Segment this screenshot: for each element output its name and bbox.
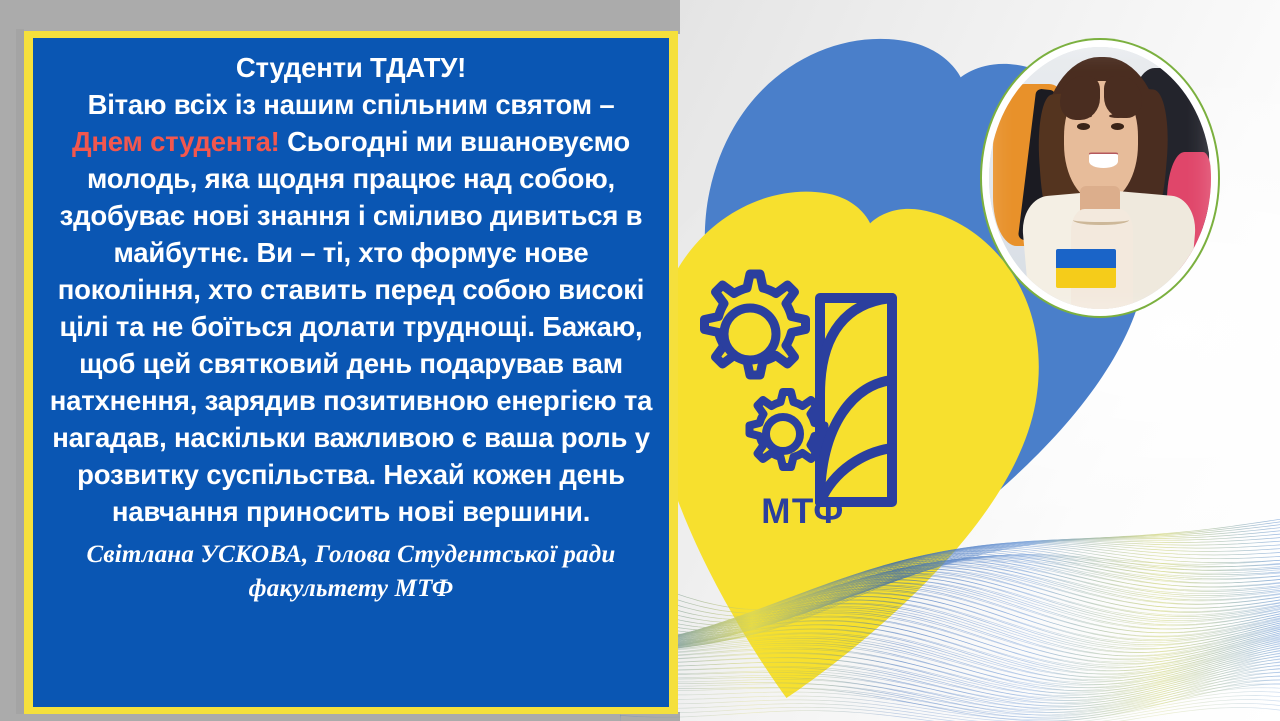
leaf-icon (820, 298, 892, 502)
signature-text: Світлана УСКОВА, Голова Студентської рад… (47, 538, 655, 607)
artwork-area: МТФ (660, 0, 1280, 721)
gear-large-icon (705, 274, 806, 375)
message-body-part2: Сьогодні ми вшановуємо молодь, яка щодня… (50, 126, 653, 527)
message-body-part1: Вітаю всіх із нашим спільним святом – (88, 89, 615, 120)
message-text: Студенти ТДАТУ! Вітаю всіх із нашим спіл… (47, 50, 655, 531)
message-card-frame: Студенти ТДАТУ! Вітаю всіх із нашим спіл… (24, 31, 678, 714)
top-margin-strip (0, 0, 680, 34)
avatar-photo (989, 47, 1211, 309)
poster-canvas: МТФ (0, 0, 1280, 721)
logo-abbreviation: МТФ (688, 492, 918, 532)
highlight-phrase: Днем студента! (72, 126, 280, 157)
avatar-ring-outer (980, 38, 1220, 318)
message-card: Студенти ТДАТУ! Вітаю всіх із нашим спіл… (33, 38, 669, 707)
avatar-ring-inner (982, 40, 1218, 316)
avatar (980, 38, 1220, 318)
message-body: Вітаю всіх із нашим спільним святом – Дн… (47, 87, 655, 531)
faculty-logo (688, 262, 918, 527)
gear-small-icon (750, 392, 825, 467)
poster-title: Студенти ТДАТУ! (47, 50, 655, 87)
